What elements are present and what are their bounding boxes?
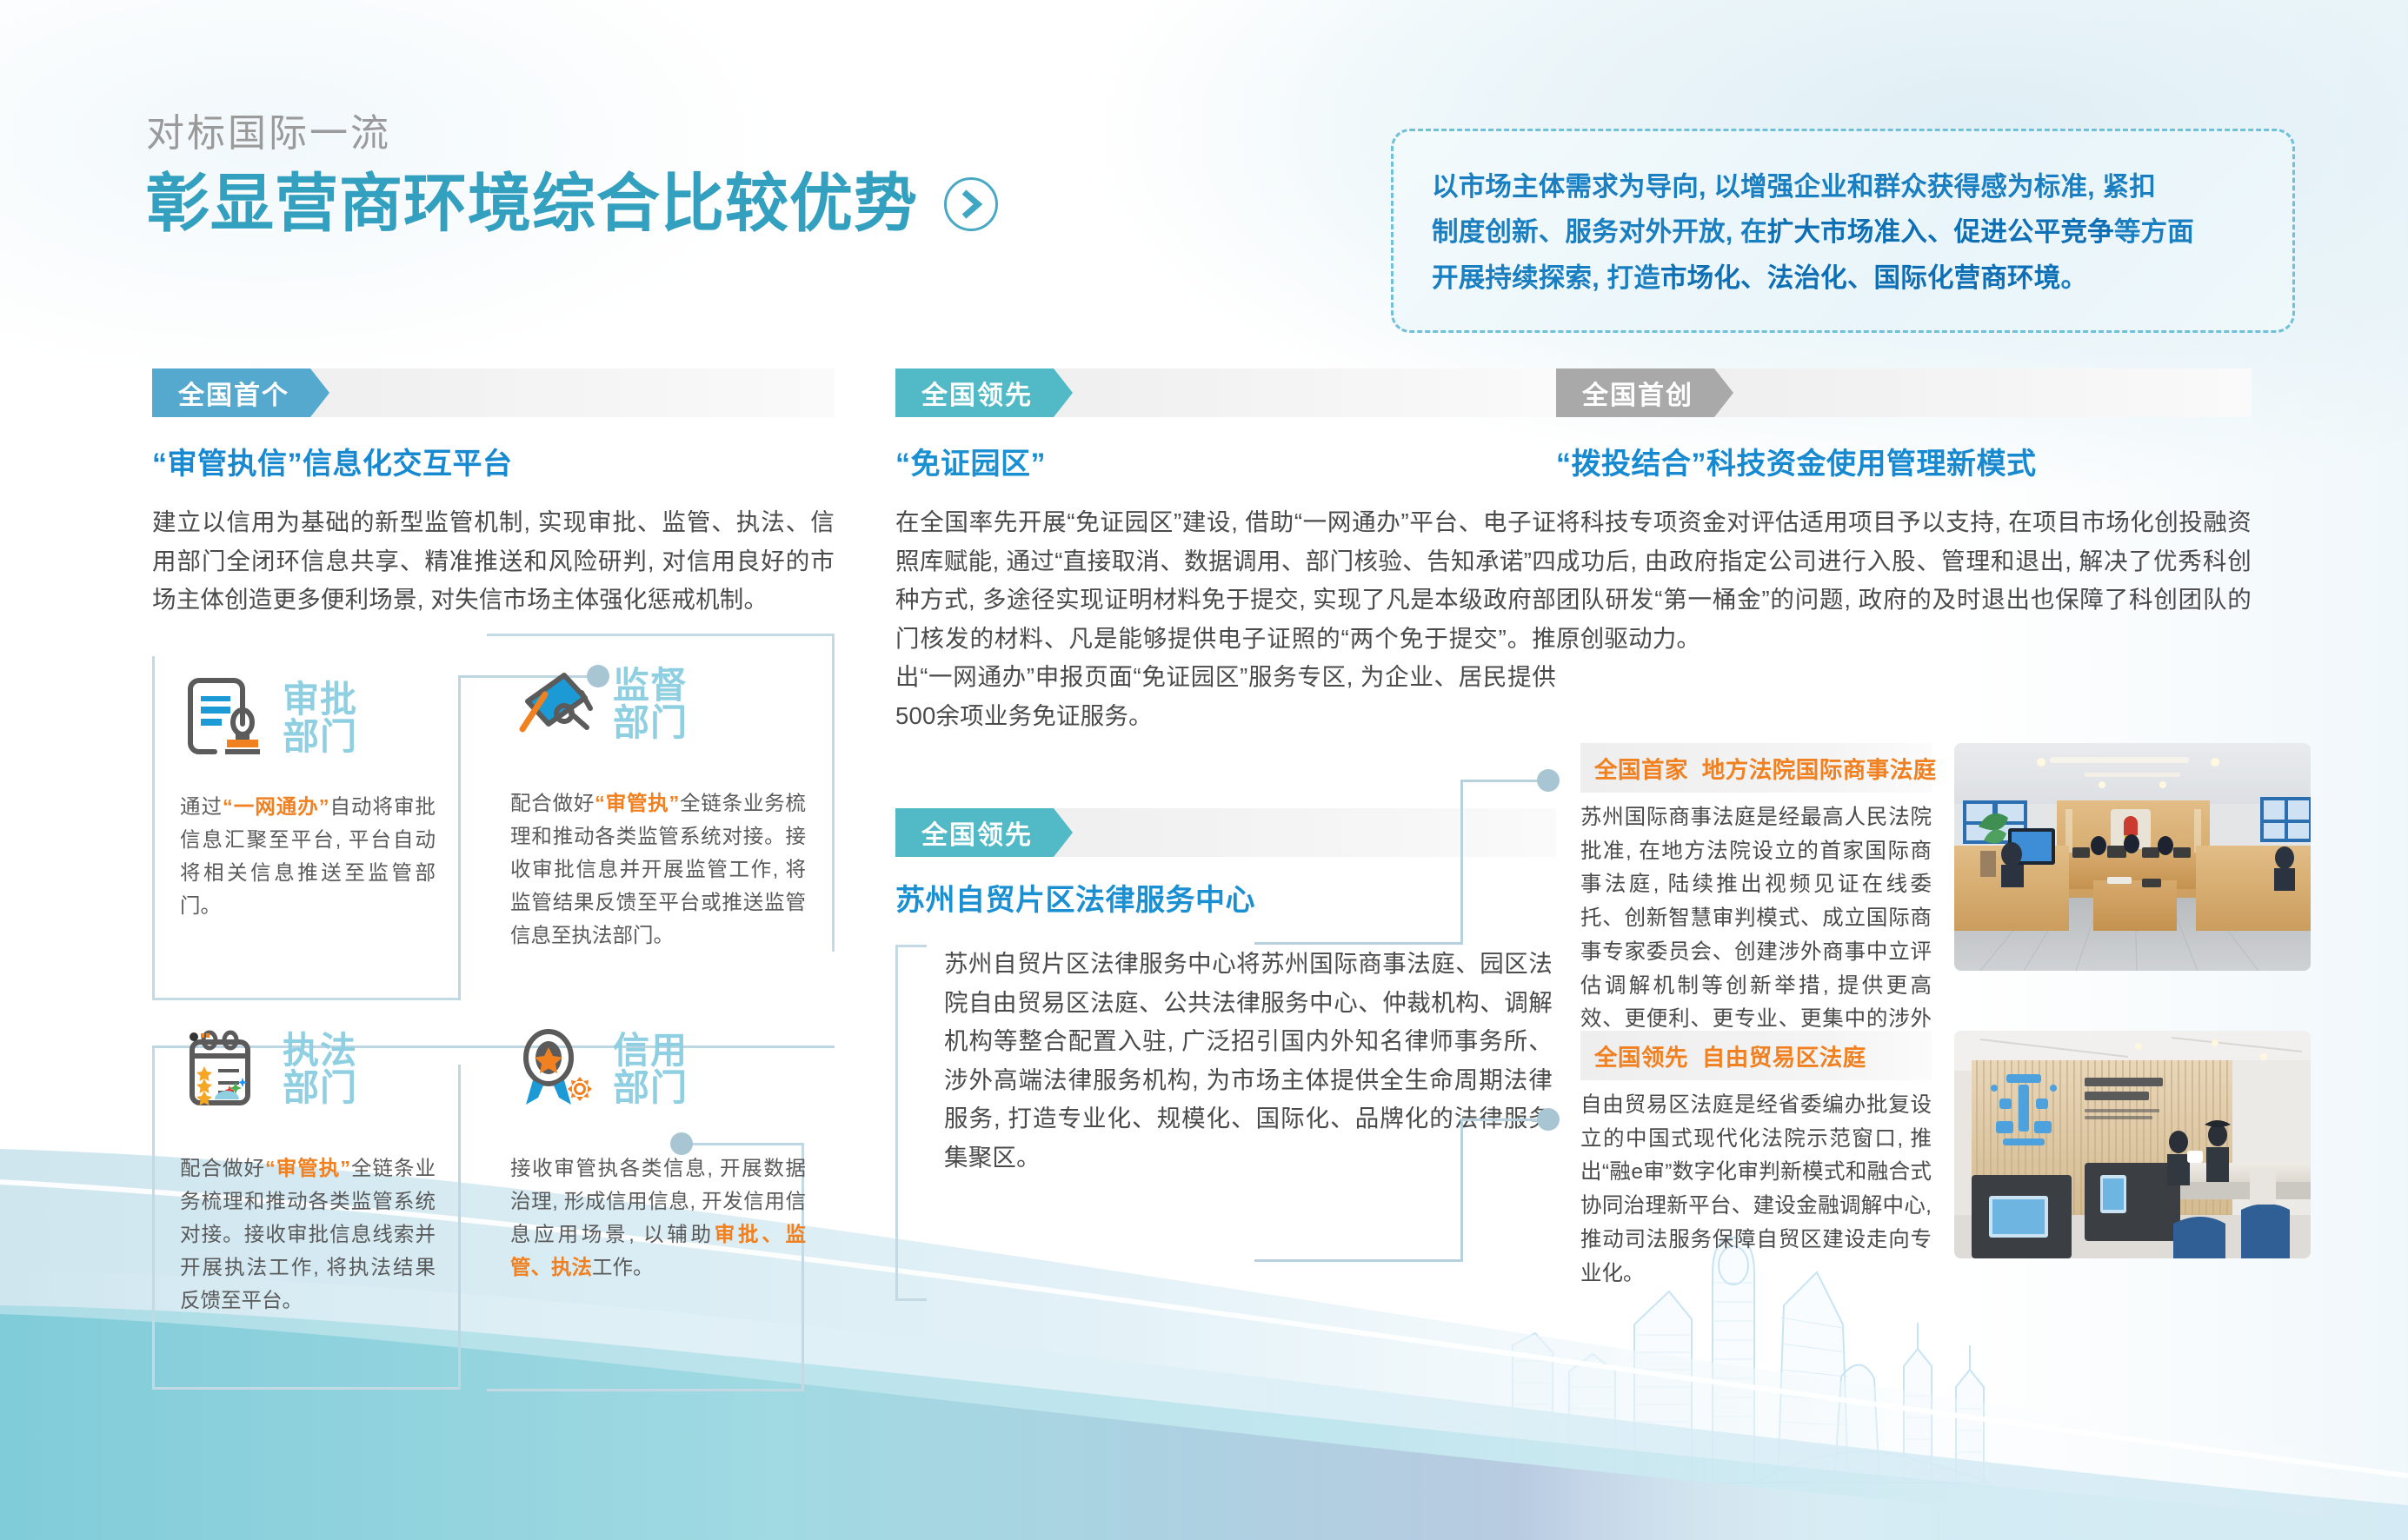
badge-first-national: 全国首个 — [152, 368, 835, 417]
connector-line-title-h — [1254, 942, 1463, 945]
desc-pre: 配合做好 — [510, 792, 595, 814]
dept-name-line1: 监督 — [613, 665, 688, 706]
callout-line3-a: 开展持续探索, 打造 — [1432, 263, 1660, 293]
department-header: 监督 部门 — [510, 656, 806, 753]
dept-name-line2: 部门 — [283, 1067, 357, 1108]
photo-item: 全国领先 自由贸易区法庭 自由贸易区法庭是经省委编办批复设立的中国式现代化法院示… — [1580, 1031, 2328, 1291]
connector-dot-court — [1537, 769, 1560, 792]
dept-name-line2: 部门 — [613, 1067, 688, 1108]
department-description: 通过“一网通办”自动将审批信息汇聚至平台, 平台自动将相关信息推送至监管部门。 — [180, 790, 436, 922]
department-cell-approval: 审批 部门 通过“一网通办”自动将审批信息汇聚至平台, 平台自动将相关信息推送至… — [152, 656, 458, 952]
photo-label: 全国领先 自由贸易区法庭 — [1580, 1031, 1932, 1080]
department-cell-supervision: 监督 部门 配合做好“审管执”全链条业务梳理和推动各类监管系统对接。接收审批信息… — [458, 656, 806, 952]
department-description: 接收审管执各类信息, 开展数据治理, 形成信用信息, 开发信用信息应用场景, 以… — [510, 1152, 806, 1284]
desc-post: 工作。 — [592, 1256, 654, 1278]
photo-section-court: 全国首家 地方法院国际商事法庭 苏州国际商事法庭是经最高人民法院批准, 在地方法… — [1580, 743, 2328, 1071]
checklist-clipboard-icon — [180, 1028, 270, 1112]
dept-name-line1: 信用 — [613, 1030, 688, 1071]
badge-national-leading-1: 全国领先 — [895, 368, 1556, 417]
photo-text-side: 全国领先 自由贸易区法庭 自由贸易区法庭是经省委编办批复设立的中国式现代化法院示… — [1580, 1031, 1932, 1291]
desc-pre: 配合做好 — [180, 1157, 265, 1179]
department-description: 配合做好“审管执”全链条业务梳理和推动各类监管系统对接。接收审批信息并开展监管工… — [510, 787, 806, 952]
poster-page: 对标国际一流 彰显营商环境综合比较优势 以市场主体需求为导向, 以增强企业和群众… — [0, 0, 2408, 1540]
department-row-top: 审批 部门 通过“一网通办”自动将审批信息汇聚至平台, 平台自动将相关信息推送至… — [152, 656, 835, 952]
ftz-court-photo — [1954, 1031, 2311, 1258]
document-stamp-icon — [180, 677, 270, 760]
section-title-funding-model: “拨投结合”科技资金使用管理新模式 — [1556, 440, 2252, 482]
award-medal-icon — [510, 1028, 601, 1112]
photo-text-side: 全国首家 地方法院国际商事法庭 苏州国际商事法庭是经最高人民法院批准, 在地方法… — [1580, 743, 1932, 1071]
legal-center-frame — [895, 945, 927, 1301]
connector-dot-ftz — [1537, 1108, 1560, 1131]
page-header: 对标国际一流 彰显营商环境综合比较优势 — [146, 115, 998, 236]
column-two-section-two: 全国领先 苏州自贸片区法律服务中心 苏州自贸片区法律服务中心将苏州国际商事法庭、… — [895, 808, 1556, 1177]
section-body-exempt-park: 在全国率先开展“免证园区”建设, 借助“一网通办”平台、电子证照库赋能, 通过“… — [895, 503, 1556, 735]
callout-line3-highlight: 市场化、法治化、国际化营商环境 — [1660, 263, 2061, 293]
department-flow-diagram: 审批 部门 通过“一网通办”自动将审批信息汇聚至平台, 平台自动将相关信息推送至… — [152, 656, 835, 1318]
section-title-exempt-park: “免证园区” — [895, 440, 1556, 482]
callout-line2-highlight: 扩大市场准入、促进公平竞争 — [1767, 217, 2114, 247]
photo-label-tag: 全国领先 — [1594, 1045, 1688, 1071]
department-name: 监督 部门 — [613, 667, 688, 742]
page-title: 彰显营商环境综合比较优势 — [146, 172, 918, 236]
dept-name-line2: 部门 — [283, 716, 357, 757]
badge-label: 全国领先 — [895, 368, 1073, 417]
photo-label-tag: 全国首家 — [1594, 757, 1688, 783]
courtroom-photo — [1954, 743, 2311, 971]
department-name: 审批 部门 — [283, 681, 357, 756]
callout-paragraph: 以市场主体需求为导向, 以增强企业和群众获得感为标准, 紧扣 制度创新、服务对外… — [1432, 164, 2254, 301]
connector-line-top-h — [1460, 780, 1540, 782]
section-title-legal-center: 苏州自贸片区法律服务中心 — [895, 876, 1556, 919]
section-body-funding-model: 将科技专项资金对评估适用项目予以支持, 在项目市场化创投融资成功后, 由政府指定… — [1556, 503, 2252, 658]
intro-callout: 以市场主体需求为导向, 以增强企业和群众获得感为标准, 紧扣 制度创新、服务对外… — [1391, 129, 2295, 333]
section-title-col1: “审管执信”信息化交互平台 — [152, 440, 835, 482]
column-two: 全国领先 “免证园区” 在全国率先开展“免证园区”建设, 借助“一网通办”平台、… — [895, 368, 1556, 735]
section-body-col1: 建立以信用为基础的新型监管机制, 实现审批、监管、执法、信用部门全闭环信息共享、… — [152, 503, 835, 620]
chevron-right-icon[interactable] — [944, 177, 998, 231]
column-three: 全国首创 “拨投结合”科技资金使用管理新模式 将科技专项资金对评估适用项目予以支… — [1556, 368, 2252, 658]
callout-line1: 以市场主体需求为导向, 以增强企业和群众获得感为标准, 紧扣 — [1432, 172, 2156, 202]
callout-line2-a: 制度创新、服务对外开放, 在 — [1432, 217, 1767, 247]
photo-label: 全国首家 地方法院国际商事法庭 — [1580, 743, 1932, 793]
department-description: 配合做好“审管执”全链条业务梳理和推动各类监管系统对接。接收审批信息线索并开展执… — [180, 1152, 436, 1317]
photo-section-ftz: 全国领先 自由贸易区法庭 自由贸易区法庭是经省委编办批复设立的中国式现代化法院示… — [1580, 1031, 2328, 1291]
department-name: 信用 部门 — [613, 1032, 688, 1107]
connector-line-lower-h-left — [1254, 1259, 1463, 1262]
connector-line-lower-h-right — [1460, 1118, 1540, 1121]
department-cell-credit: 信用 部门 接收审管执各类信息, 开展数据治理, 形成信用信息, 开发信用信息应… — [458, 1011, 806, 1317]
callout-line3-c: 。 — [2060, 263, 2087, 293]
surveillance-camera-icon — [510, 663, 601, 747]
desc-highlight: “审管执” — [265, 1157, 350, 1179]
desc-highlight: “审管执” — [595, 792, 679, 814]
photo-label-name: 自由贸易区法庭 — [1702, 1045, 1866, 1071]
desc-post: 全链条业务梳理和推动各类监管系统对接。接收审批信息并开展监管工作, 将监管结果反… — [510, 792, 806, 946]
department-header: 执法 部门 — [180, 1021, 436, 1118]
badge-national-first-creation: 全国首创 — [1556, 368, 2252, 417]
department-name: 执法 部门 — [283, 1032, 357, 1107]
kicker-text: 对标国际一流 — [146, 115, 998, 153]
dept-name-line2: 部门 — [613, 702, 688, 743]
photo-item: 全国首家 地方法院国际商事法庭 苏州国际商事法庭是经最高人民法院批准, 在地方法… — [1580, 743, 2328, 1071]
badge-national-leading-2: 全国领先 — [895, 808, 1556, 857]
connector-line-lower-v — [1460, 1118, 1463, 1262]
badge-label: 全国首个 — [152, 368, 329, 417]
desc-highlight: “一网通办” — [223, 795, 329, 818]
photo-description: 自由贸易区法庭是经省委编办批复设立的中国式现代化法院示范窗口, 推出“融e审”数… — [1580, 1089, 1932, 1291]
department-header: 信用 部门 — [510, 1021, 806, 1118]
desc-post: 全链条业务梳理和推动各类监管系统对接。接收审批信息线索并开展执法工作, 将执法结… — [180, 1157, 436, 1311]
department-cell-enforcement: 执法 部门 配合做好“审管执”全链条业务梳理和推动各类监管系统对接。接收审批信息… — [152, 1011, 458, 1317]
badge-label: 全国领先 — [895, 808, 1073, 857]
dept-name-line1: 执法 — [283, 1030, 357, 1071]
department-header: 审批 部门 — [180, 670, 436, 767]
photo-label-name: 地方法院国际商事法庭 — [1702, 757, 1937, 783]
department-row-bottom: 执法 部门 配合做好“审管执”全链条业务梳理和推动各类监管系统对接。接收审批信息… — [152, 1011, 835, 1317]
legal-center-body-wrap: 苏州自贸片区法律服务中心将苏州国际商事法庭、园区法院自由贸易区法庭、公共法律服务… — [895, 945, 1556, 1177]
dept-name-line1: 审批 — [283, 679, 357, 720]
desc-pre: 通过 — [180, 795, 223, 818]
connector-line-up-v — [1460, 780, 1463, 945]
column-one: 全国首个 “审管执信”信息化交互平台 建立以信用为基础的新型监管机制, 实现审批… — [152, 368, 835, 1317]
title-row: 彰显营商环境综合比较优势 — [146, 172, 998, 236]
callout-line2-c: 等方面 — [2114, 217, 2194, 247]
badge-label: 全国首创 — [1556, 368, 1733, 417]
